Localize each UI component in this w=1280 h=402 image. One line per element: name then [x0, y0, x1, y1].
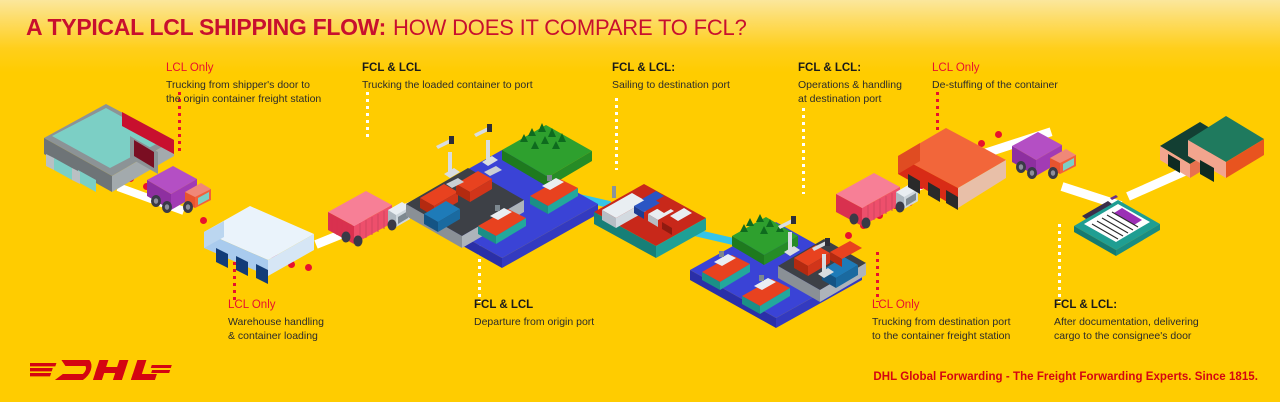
leader-line-step-2	[366, 92, 369, 138]
callout-body: After documentation, delivering cargo to…	[1054, 316, 1199, 343]
callout-step-4: FCL & LCL: Operations & handling at dest…	[798, 61, 902, 106]
callout-heading: LCL Only	[166, 61, 321, 76]
callout-body: Trucking the loaded container to port	[362, 79, 533, 93]
callout-step-2: FCL & LCL Trucking the loaded container …	[362, 61, 533, 93]
consignee-house	[1152, 98, 1274, 214]
callout-heading: LCL Only	[932, 61, 1058, 76]
callout-step-5: LCL Only De-stuffing of the container	[932, 61, 1058, 93]
origin-container-freight-station	[198, 198, 320, 272]
callout-body: Sailing to destination port	[612, 79, 730, 93]
callout-body: Trucking from shipper's door to the orig…	[166, 79, 321, 106]
callout-heading: LCL Only	[228, 298, 324, 313]
callout-body: Operations & handling at destination por…	[798, 79, 902, 106]
callout-heading: FCL & LCL:	[798, 61, 902, 76]
callout-heading: FCL & LCL	[362, 61, 533, 76]
callout-step-3: FCL & LCL: Sailing to destination port	[612, 61, 730, 93]
title-main: A TYPICAL LCL SHIPPING FLOW:	[26, 14, 386, 40]
footer-tagline: DHL Global Forwarding - The Freight Forw…	[873, 371, 1258, 383]
leader-line-step-8	[876, 252, 879, 302]
callout-step-6: LCL Only Warehouse handling & container …	[228, 298, 324, 343]
callout-body: De-stuffing of the container	[932, 79, 1058, 93]
callout-body: Trucking from destination port to the co…	[872, 316, 1011, 343]
callout-step-9: FCL & LCL: After documentation, deliveri…	[1054, 298, 1199, 343]
callout-step-7: FCL & LCL Departure from origin port	[474, 298, 594, 330]
leader-line-step-4	[802, 108, 805, 194]
origin-seaport	[398, 108, 604, 254]
destination-container-freight-station	[892, 120, 1012, 200]
callout-heading: FCL & LCL:	[1054, 298, 1199, 313]
callout-heading: LCL Only	[872, 298, 1011, 313]
callout-heading: FCL & LCL	[474, 298, 594, 313]
callout-heading: FCL & LCL:	[612, 61, 730, 76]
callout-body: Departure from origin port	[474, 316, 594, 330]
page-title: A TYPICAL LCL SHIPPING FLOW:HOW DOES IT …	[26, 14, 747, 41]
infographic-canvas: A TYPICAL LCL SHIPPING FLOW:HOW DOES IT …	[0, 0, 1280, 402]
callout-body: Warehouse handling & container loading	[228, 316, 324, 343]
leader-line-step-3	[615, 98, 618, 170]
callout-step-1: LCL Only Trucking from shipper's door to…	[166, 61, 321, 106]
title-subtitle: HOW DOES IT COMPARE TO FCL?	[393, 15, 747, 40]
dhl-logo	[30, 352, 172, 393]
callout-step-8: LCL Only Trucking from destination port …	[872, 298, 1011, 343]
leader-line-step-9	[1058, 224, 1061, 302]
